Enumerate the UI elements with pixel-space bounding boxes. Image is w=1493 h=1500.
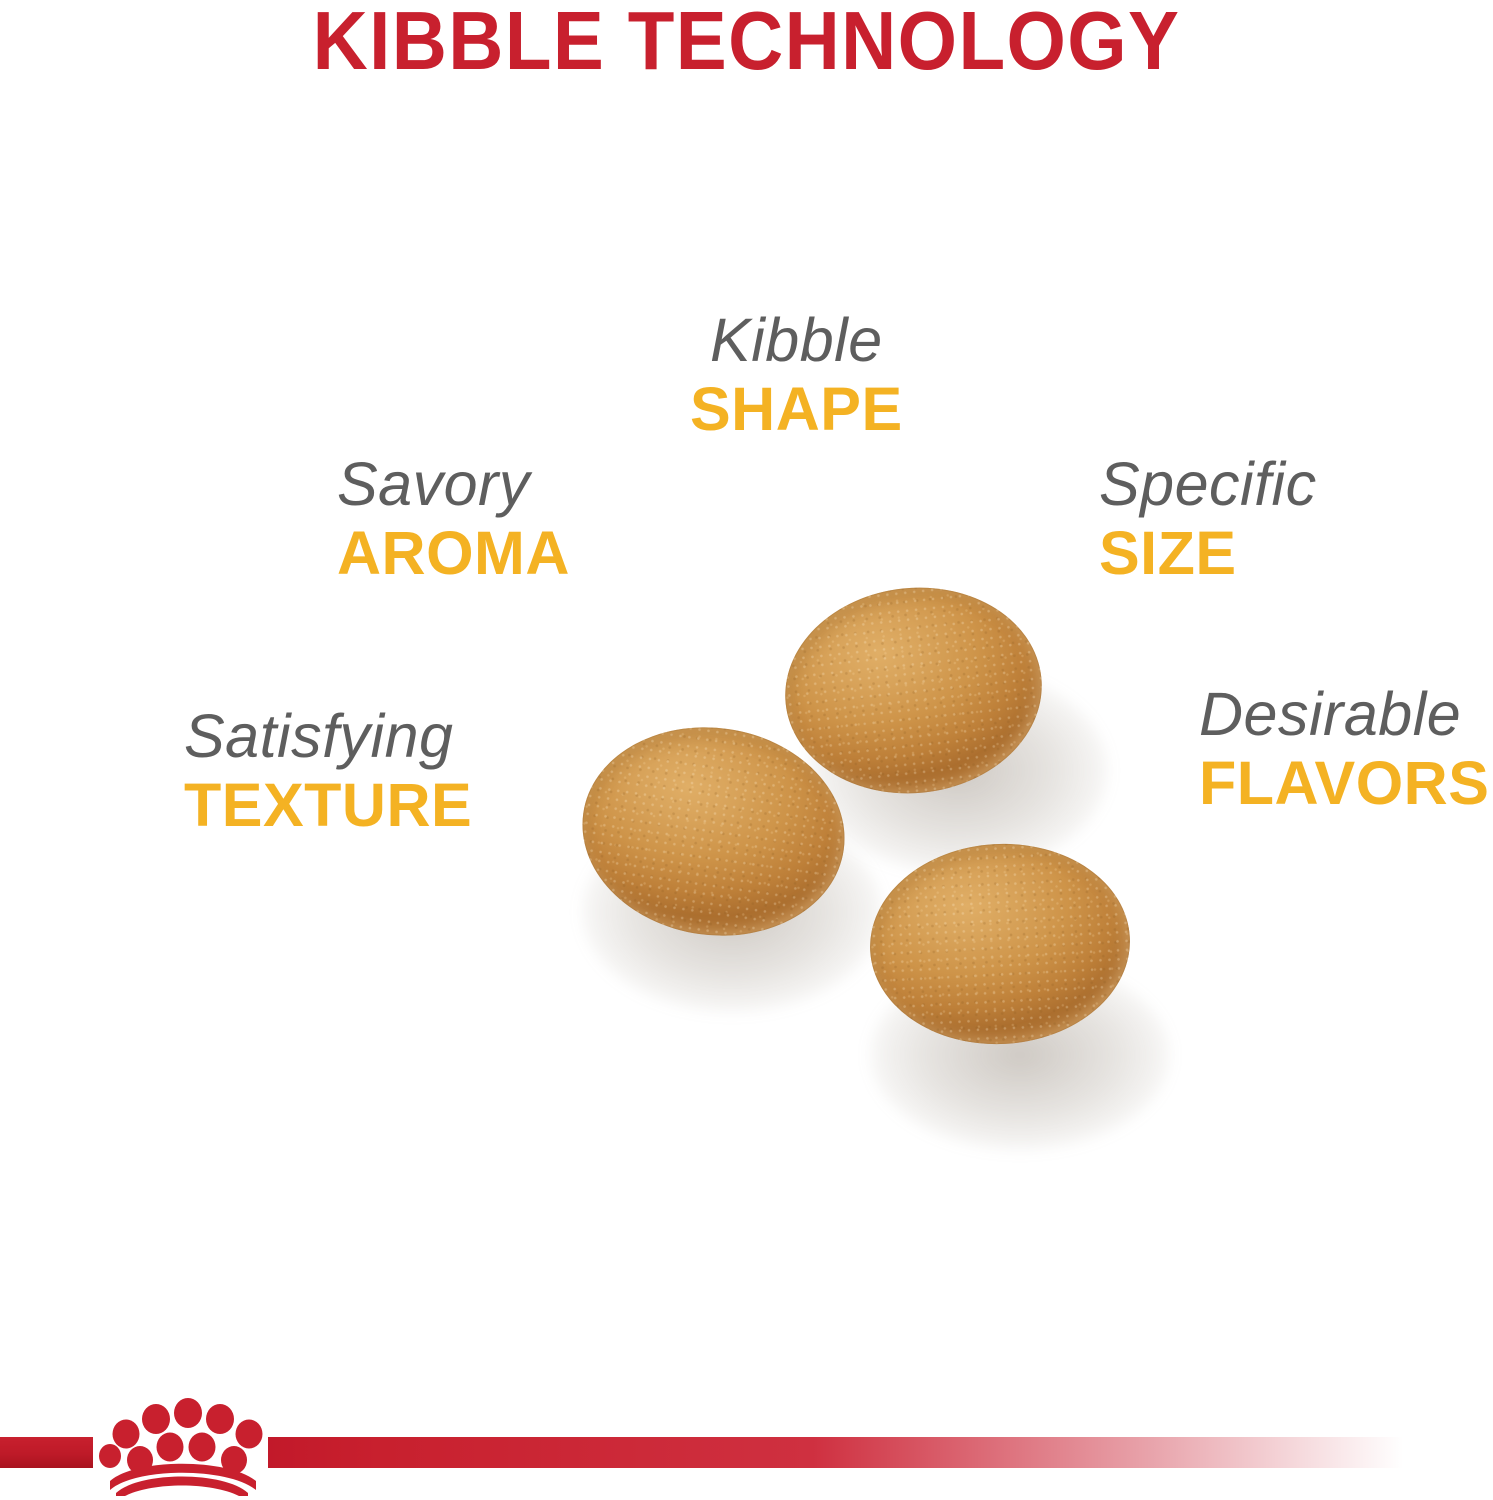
- feature-label-texture: Satisfying TEXTURE: [184, 702, 472, 840]
- feature-adjective-flavors: Desirable: [1199, 680, 1489, 748]
- brand-bar-right-segment: [268, 1437, 1403, 1468]
- page-title: KIBBLE TECHNOLOGY: [60, 0, 1434, 86]
- feature-label-aroma: Savory AROMA: [337, 450, 570, 588]
- feature-noun-shape: SHAPE: [690, 374, 903, 444]
- feature-adjective-texture: Satisfying: [184, 702, 472, 770]
- feature-label-flavors: Desirable FLAVORS: [1199, 680, 1489, 818]
- feature-adjective-size: Specific: [1099, 450, 1317, 518]
- royal-canin-crown-logo: [96, 1386, 272, 1496]
- footer-brand-bar: [0, 1380, 1493, 1500]
- brand-bar-left-segment: [0, 1437, 93, 1468]
- kibble-technology-panel: KIBBLE TECHNOLOGY Kibble SHAPE Savory AR…: [0, 0, 1493, 1500]
- feature-label-shape: Kibble SHAPE: [690, 306, 903, 444]
- feature-noun-texture: TEXTURE: [184, 770, 472, 840]
- feature-noun-flavors: FLAVORS: [1199, 748, 1489, 818]
- feature-adjective-shape: Kibble: [690, 306, 903, 374]
- feature-adjective-aroma: Savory: [337, 450, 570, 518]
- kibble-photo-group: [540, 560, 1220, 1090]
- feature-noun-aroma: AROMA: [337, 518, 570, 588]
